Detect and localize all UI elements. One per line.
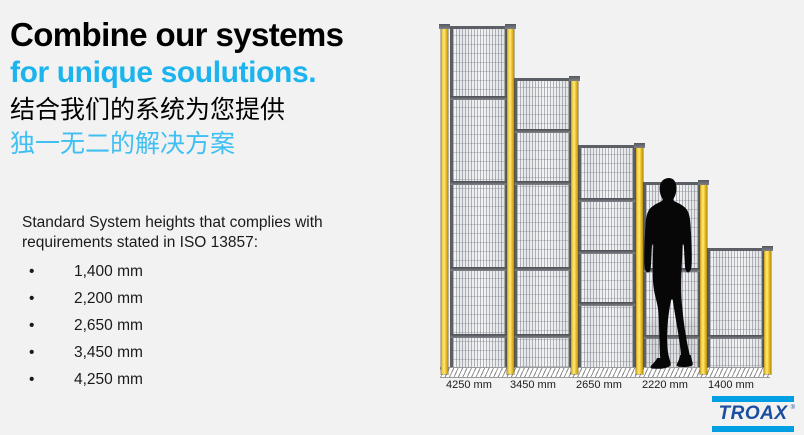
post-cap	[634, 143, 645, 148]
list-item: •3,450 mm	[22, 339, 422, 366]
logo-bar-bottom	[712, 426, 794, 432]
fence-height-comparison-illustration: 4250 mm 3450 mm 2650 mm 2220 mm 1400 mm	[430, 0, 804, 435]
body-text-block: Standard System heights that complies wi…	[22, 213, 422, 393]
panel-crossbar	[514, 181, 572, 185]
fence-panel-2650	[578, 145, 636, 370]
fence-panel-3450	[514, 78, 572, 370]
panel-crossbar	[707, 335, 765, 339]
headline-line-1: Combine our systems	[10, 16, 430, 54]
registered-mark: ®	[791, 405, 795, 411]
slide-canvas: Combine our systems for unique soulution…	[0, 0, 804, 435]
post-cap	[439, 24, 450, 29]
troax-logo: TROAX ®	[712, 396, 794, 432]
bullet-marker-icon: •	[29, 366, 34, 393]
panel-crossbar	[450, 181, 508, 185]
panel-crossbar	[578, 250, 636, 254]
panel-frame	[707, 248, 765, 370]
panel-crossbar	[578, 198, 636, 202]
bullet-marker-icon: •	[29, 285, 34, 312]
fence-post	[636, 145, 643, 374]
bullet-label: 2,200 mm	[74, 290, 143, 307]
post-cap	[698, 180, 709, 185]
headline-line-4-chinese: 独一无二的解决方案	[10, 128, 430, 161]
post-cap	[762, 246, 773, 251]
fence-panel-4250	[450, 26, 508, 370]
bullet-label: 2,650 mm	[74, 317, 143, 334]
panel-frame	[578, 145, 636, 370]
panel-crossbar	[450, 96, 508, 100]
fence-post	[507, 26, 514, 374]
bullet-marker-icon: •	[29, 312, 34, 339]
fence-panel-1400	[707, 248, 765, 370]
floor-hatch-strip	[440, 367, 770, 378]
body-intro-text: Standard System heights that complies wi…	[22, 213, 372, 253]
measurement-label-row: 4250 mm 3450 mm 2650 mm 2220 mm 1400 mm	[430, 379, 804, 395]
fence-post	[700, 182, 707, 374]
list-item: •4,250 mm	[22, 366, 422, 393]
panel-crossbar	[514, 129, 572, 133]
panel-crossbar	[450, 267, 508, 271]
panel-crossbar	[514, 334, 572, 338]
measurement-label-1400: 1400 mm	[708, 379, 754, 391]
fence-post	[441, 26, 448, 374]
panel-crossbar	[578, 302, 636, 306]
logo-wordmark: TROAX	[712, 403, 794, 425]
bullet-marker-icon: •	[29, 339, 34, 366]
measurement-label-3450: 3450 mm	[510, 379, 556, 391]
logo-bar-top	[712, 396, 794, 402]
measurement-label-2220: 2220 mm	[642, 379, 688, 391]
panel-frame	[514, 78, 572, 370]
fence-post	[764, 248, 771, 374]
headline-line-3-chinese: 结合我们的系统为您提供	[10, 94, 430, 127]
headline-line-2: for unique soulutions.	[10, 55, 430, 91]
measurement-label-2650: 2650 mm	[576, 379, 622, 391]
fence-post	[571, 78, 578, 374]
list-item: •2,650 mm	[22, 312, 422, 339]
human-scale-silhouette	[643, 176, 695, 370]
measurement-label-4250: 4250 mm	[446, 379, 492, 391]
bullet-label: 1,400 mm	[74, 263, 143, 280]
bullet-label: 3,450 mm	[74, 344, 143, 361]
list-item: •2,200 mm	[22, 285, 422, 312]
panel-frame	[450, 26, 508, 370]
panel-crossbar	[450, 334, 508, 338]
list-item: •1,400 mm	[22, 258, 422, 285]
bullet-marker-icon: •	[29, 258, 34, 285]
bullet-label: 4,250 mm	[74, 371, 143, 388]
panel-crossbar	[514, 267, 572, 271]
headline-group: Combine our systems for unique soulution…	[10, 16, 430, 161]
height-bullet-list: •1,400 mm •2,200 mm •2,650 mm •3,450 mm …	[22, 258, 422, 393]
post-cap	[569, 76, 580, 81]
post-cap	[505, 24, 516, 29]
